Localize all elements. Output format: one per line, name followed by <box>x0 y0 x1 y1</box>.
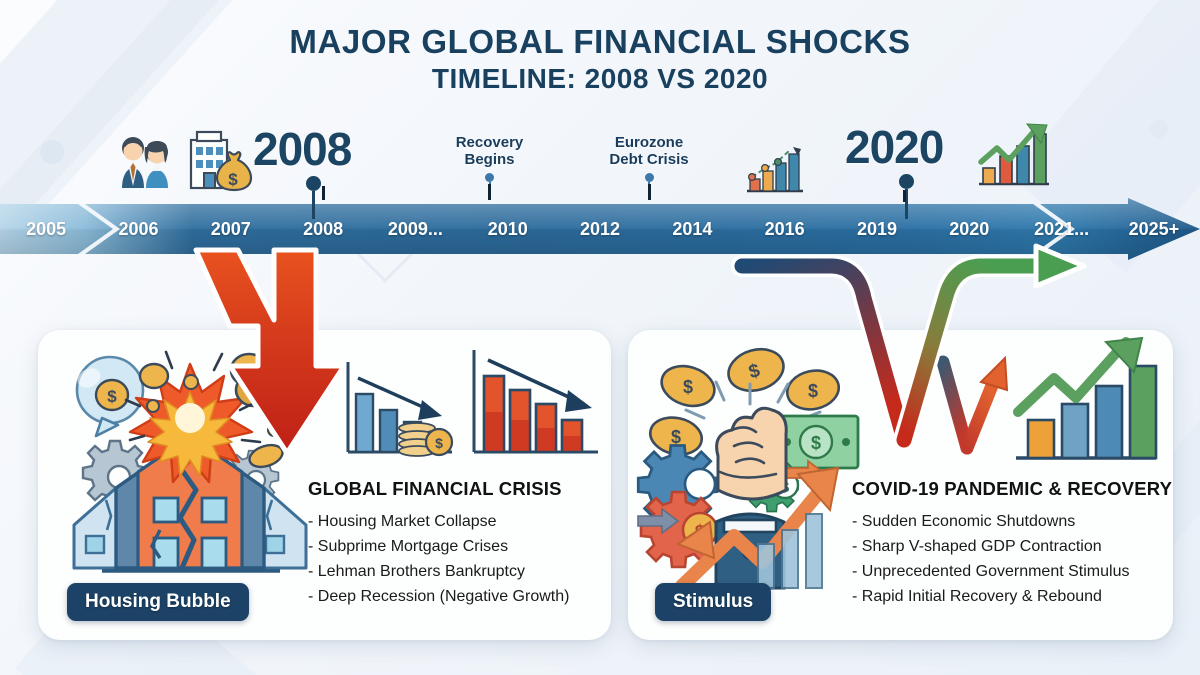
card-global-financial-crisis[interactable]: $ <box>38 330 611 640</box>
era-label-2020: 2020 <box>845 120 943 174</box>
timeline-year: 2006 <box>92 219 184 240</box>
pin-marker-2020 <box>899 174 914 219</box>
declining-blue-bars-icon: $ <box>338 356 458 462</box>
v-rebound-arrow-icon <box>933 352 1011 464</box>
svg-text:$: $ <box>107 387 117 406</box>
card-bullet: - Deep Recession (Negative Growth) <box>308 585 569 610</box>
card-heading: GLOBAL FINANCIAL CRISIS <box>308 478 562 500</box>
annotation-line-2: Begins <box>432 151 547 168</box>
svg-text:$: $ <box>811 433 821 453</box>
timeline-year: 2021... <box>1015 219 1107 240</box>
title-line-2: TIMELINE: 2008 VS 2020 <box>0 63 1200 95</box>
card-bullet: - Sudden Economic Shutdowns <box>852 510 1129 535</box>
background-dot <box>1150 120 1168 138</box>
timeline-year: 2012 <box>554 219 646 240</box>
card-bullet: - Subprime Mortgage Crises <box>308 535 569 560</box>
timeline-tick <box>903 190 906 202</box>
card-bullet-list: - Housing Market Collapse - Subprime Mor… <box>308 510 569 610</box>
card-heading: COVID-19 PANDEMIC & RECOVERY <box>852 478 1172 500</box>
annotation-dot <box>645 173 654 182</box>
card-bullet: - Sharp V-shaped GDP Contraction <box>852 535 1129 560</box>
card-bullet-list: - Sudden Economic Shutdowns - Sharp V-sh… <box>852 510 1129 610</box>
svg-text:$: $ <box>808 381 818 401</box>
raised-fist-stimulus-icon: $ $ $ $ $ $ <box>638 344 870 588</box>
timeline-year: 2007 <box>185 219 277 240</box>
cracked-house-explosion-icon: $ <box>54 340 322 590</box>
timeline-year: 2010 <box>462 219 554 240</box>
svg-text:$: $ <box>671 427 681 447</box>
timeline-year-list: 2005 2006 2007 2008 2009... 2010 2012 20… <box>0 198 1200 260</box>
card-covid-pandemic-recovery[interactable]: $ $ $ $ $ $ <box>628 330 1173 640</box>
timeline-year: 2025+ <box>1108 219 1200 240</box>
timeline-year: 2019 <box>831 219 923 240</box>
timeline-year: 2014 <box>646 219 738 240</box>
page-title: MAJOR GLOBAL FINANCIAL SHOCKS TIMELINE: … <box>0 24 1200 95</box>
card-bullet: - Rapid Initial Recovery & Rebound <box>852 585 1129 610</box>
declining-red-bars-icon <box>466 346 601 462</box>
svg-text:$: $ <box>435 435 443 451</box>
background-dot <box>40 140 64 164</box>
card-bullet: - Housing Market Collapse <box>308 510 569 535</box>
card-bullet: - Unprecedented Government Stimulus <box>852 560 1129 585</box>
timeline-tick <box>322 186 325 200</box>
svg-text:$: $ <box>683 377 693 397</box>
title-line-1: MAJOR GLOBAL FINANCIAL SHOCKS <box>0 24 1200 61</box>
timeline-bar: 2005 2006 2007 2008 2009... 2010 2012 20… <box>0 198 1200 260</box>
timeline-year: 2016 <box>739 219 831 240</box>
timeline-year: 2005 <box>0 219 92 240</box>
era-label-2008: 2008 <box>253 122 351 176</box>
badge-housing-bubble[interactable]: Housing Bubble <box>67 583 249 621</box>
timeline-year: 2008 <box>277 219 369 240</box>
timeline-year: 2009... <box>369 219 461 240</box>
timeline-year: 2020 <box>923 219 1015 240</box>
pin-marker-2008 <box>306 176 321 219</box>
infographic-canvas: MAJOR GLOBAL FINANCIAL SHOCKS TIMELINE: … <box>0 0 1200 675</box>
rising-bars-green-arrow-icon <box>1010 348 1160 468</box>
timeline-tick <box>648 184 651 200</box>
annotation-line-2: Debt Crisis <box>588 151 710 168</box>
annotation-line-1: Eurozone <box>588 134 710 151</box>
badge-stimulus[interactable]: Stimulus <box>655 583 771 621</box>
annotation-dot <box>485 173 494 182</box>
card-bullet: - Lehman Brothers Bankruptcy <box>308 560 569 585</box>
annotation-line-1: Recovery <box>432 134 547 151</box>
timeline-tick <box>488 184 491 200</box>
